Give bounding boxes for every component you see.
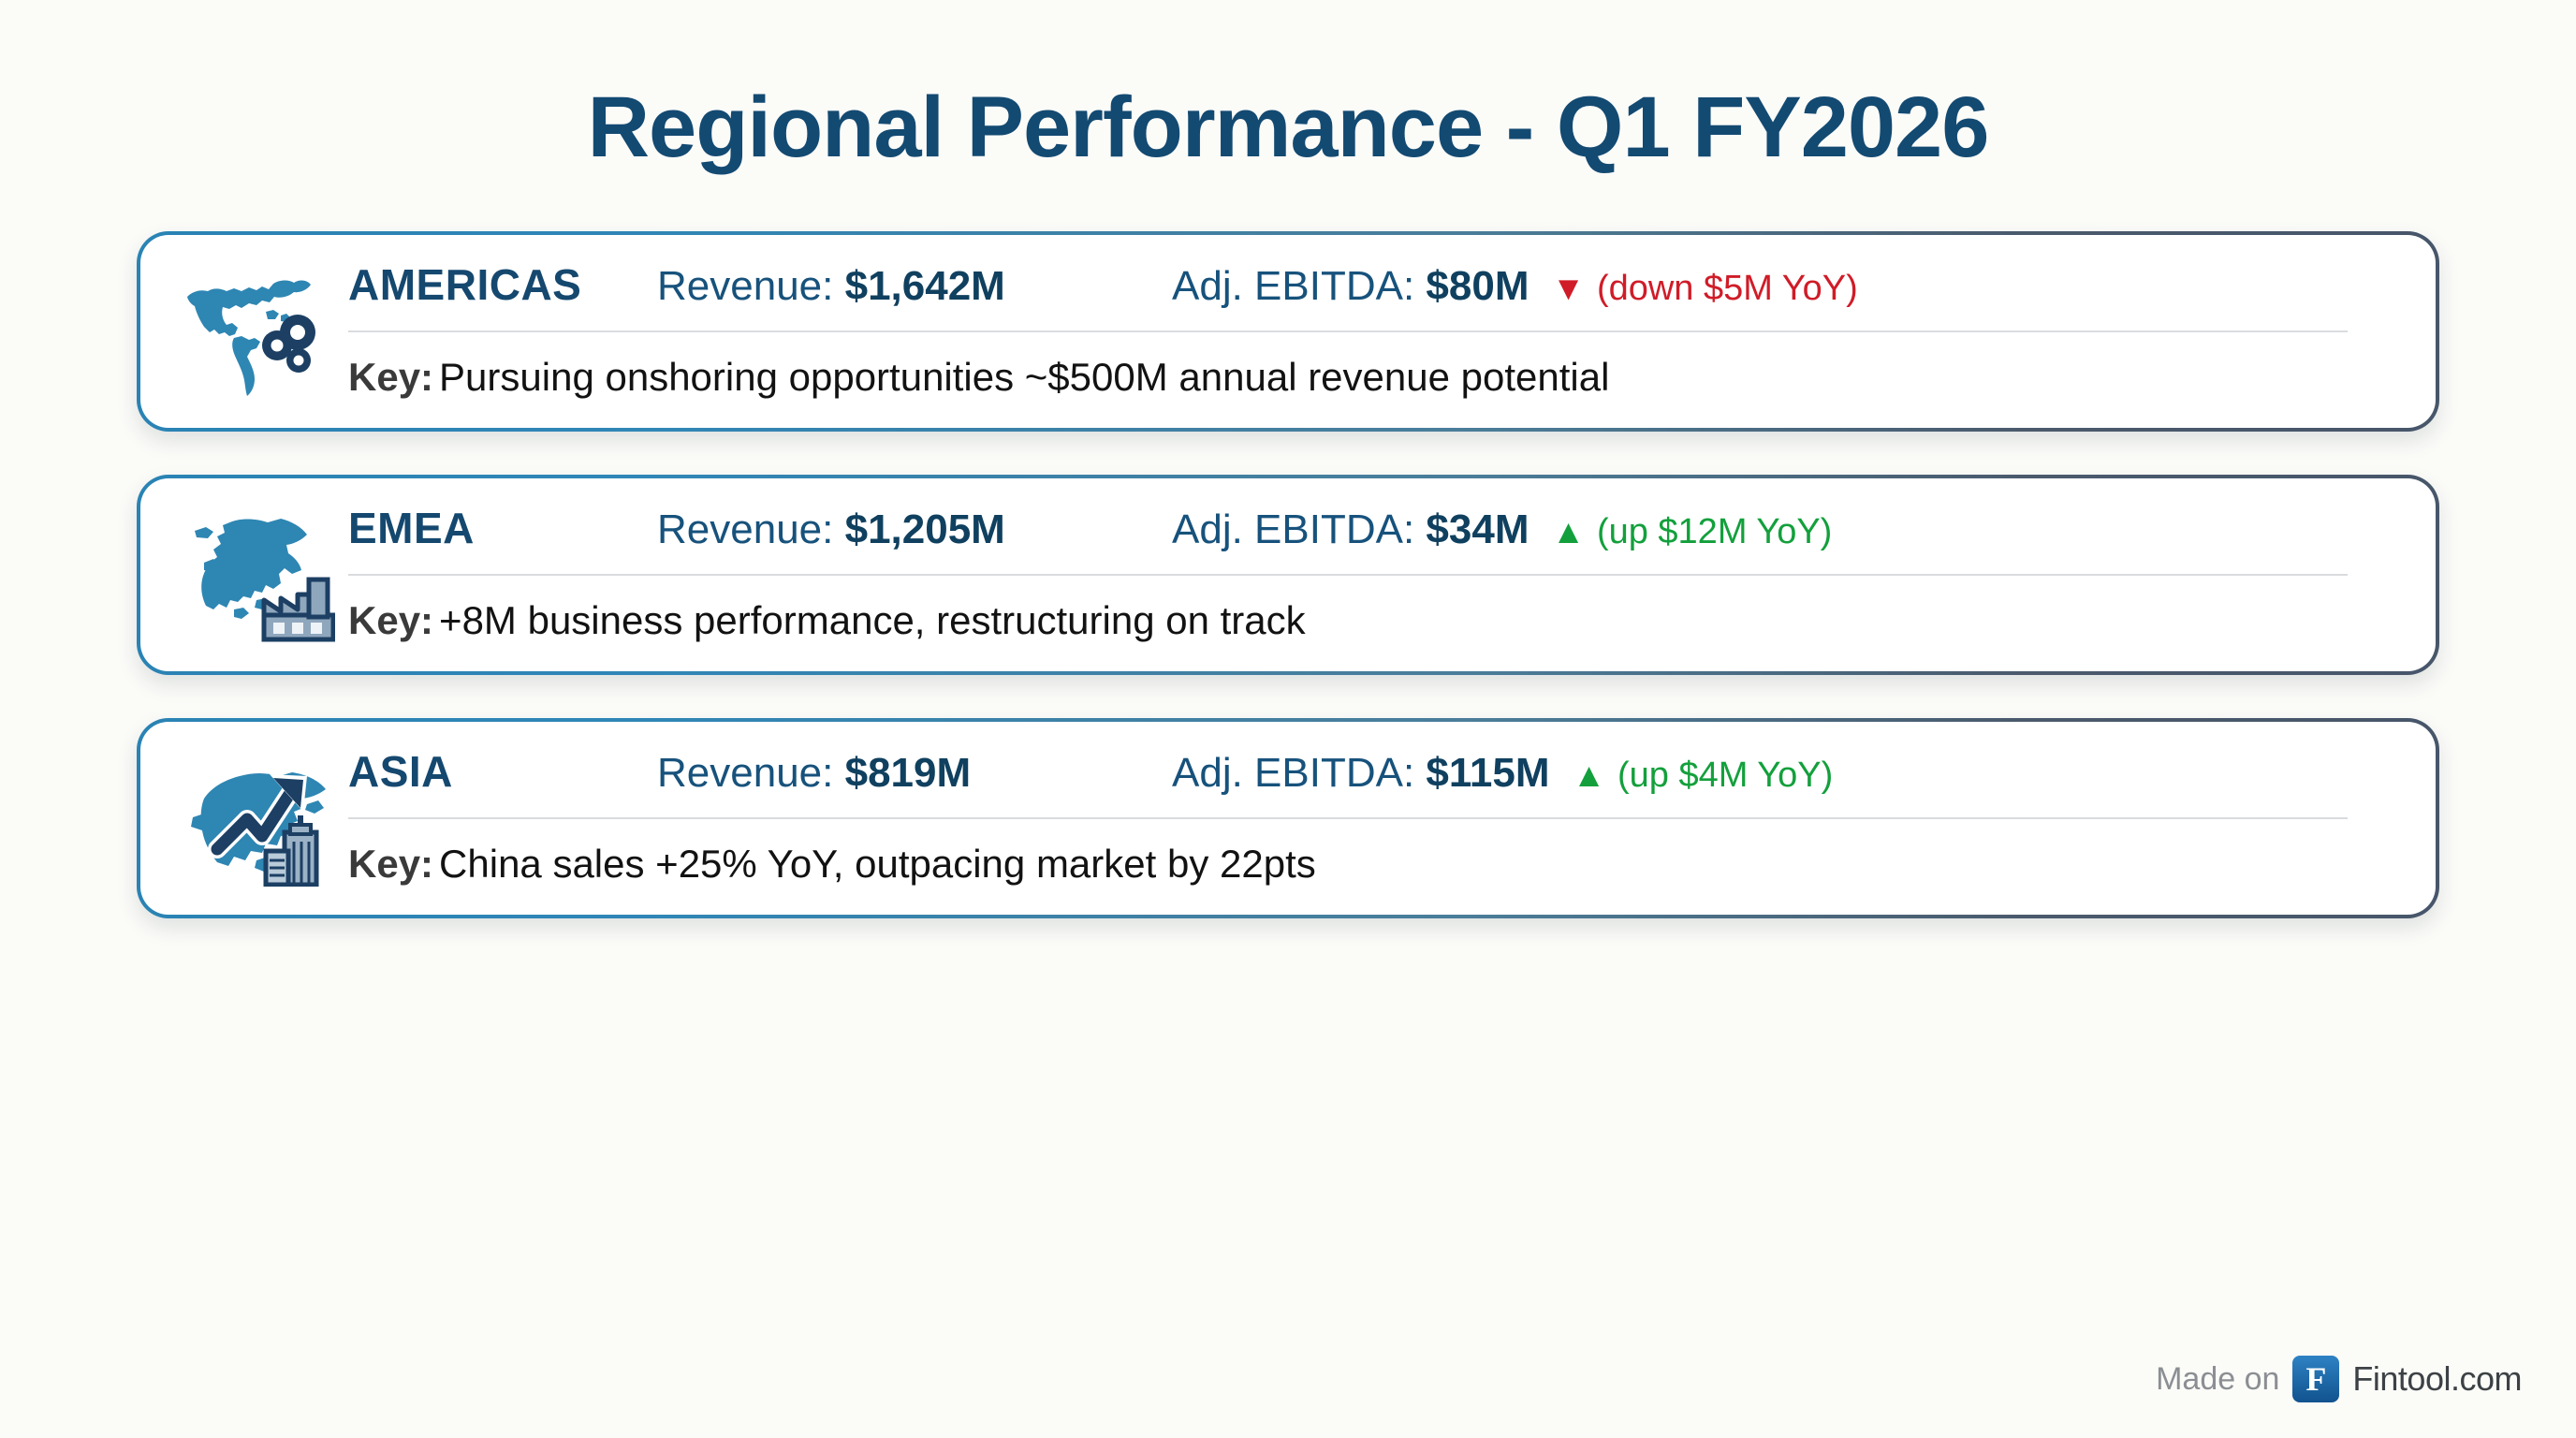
ebitda-delta: ▼ (down $5M YoY) [1552, 269, 1858, 308]
delta-text: (up $4M YoY) [1617, 756, 1833, 795]
key-text: China sales +25% YoY, outpacing market b… [439, 842, 1316, 886]
region-label: ASIA [348, 746, 657, 797]
region-label: AMERICAS [348, 259, 657, 310]
delta-text: (up $12M YoY) [1597, 512, 1832, 551]
region-card-emea[interactable]: EMEA Revenue: $1,205M Adj. EBITDA: $34M … [137, 475, 2439, 675]
footer-made-on-label: Made on [2156, 1361, 2279, 1398]
revenue-metric: Revenue: $1,642M [657, 263, 1172, 310]
revenue-value: $1,642M [845, 263, 1005, 309]
delta-text: (down $5M YoY) [1597, 269, 1858, 308]
world-map-americas-gears-icon [172, 259, 339, 400]
ebitda-value: $80M [1426, 263, 1529, 309]
metrics-row: ASIA Revenue: $819M Adj. EBITDA: $115M ▲… [348, 746, 2400, 817]
revenue-label: Revenue: [657, 506, 833, 552]
key-label: Key: [348, 355, 433, 399]
ebitda-metric: Adj. EBITDA: $34M ▲ (up $12M YoY) [1172, 506, 2400, 553]
ebitda-label: Adj. EBITDA: [1172, 750, 1414, 796]
triangle-down-icon: ▼ [1552, 269, 1588, 307]
triangle-up-icon: ▲ [1552, 512, 1588, 550]
fintool-logo-icon: F [2292, 1356, 2339, 1402]
page-title: Regional Performance - Q1 FY2026 [0, 0, 2576, 173]
key-row: Key:China sales +25% YoY, outpacing mark… [348, 819, 2400, 887]
ebitda-delta: ▲ (up $4M YoY) [1573, 756, 1833, 795]
key-text: Pursuing onshoring opportunities ~$500M … [439, 355, 1609, 399]
metrics-row: AMERICAS Revenue: $1,642M Adj. EBITDA: $… [348, 259, 2400, 330]
revenue-value: $1,205M [845, 506, 1005, 552]
key-row: Key:+8M business performance, restructur… [348, 576, 2400, 643]
revenue-label: Revenue: [657, 750, 833, 796]
ebitda-metric: Adj. EBITDA: $115M ▲ (up $4M YoY) [1172, 750, 2400, 797]
revenue-label: Revenue: [657, 263, 833, 309]
europe-map-factory-icon [172, 503, 339, 643]
region-card-asia[interactable]: ASIA Revenue: $819M Adj. EBITDA: $115M ▲… [137, 718, 2439, 918]
triangle-up-icon: ▲ [1573, 756, 1608, 794]
ebitda-value: $115M [1426, 750, 1549, 796]
ebitda-delta: ▲ (up $12M YoY) [1552, 512, 1833, 551]
revenue-value: $819M [845, 750, 972, 796]
ebitda-label: Adj. EBITDA: [1172, 263, 1414, 309]
ebitda-label: Adj. EBITDA: [1172, 506, 1414, 552]
key-label: Key: [348, 598, 433, 642]
footer-attribution[interactable]: Made on F Fintool.com [2156, 1356, 2522, 1402]
key-text: +8M business performance, restructuring … [439, 598, 1306, 642]
region-card-americas[interactable]: AMERICAS Revenue: $1,642M Adj. EBITDA: $… [137, 231, 2439, 432]
key-row: Key:Pursuing onshoring opportunities ~$5… [348, 332, 2400, 400]
footer-brand-label: Fintool.com [2352, 1359, 2522, 1399]
asia-map-growth-arrow-buildings-icon [172, 746, 339, 887]
region-cards-list: AMERICAS Revenue: $1,642M Adj. EBITDA: $… [0, 231, 2576, 918]
metrics-row: EMEA Revenue: $1,205M Adj. EBITDA: $34M … [348, 503, 2400, 574]
region-label: EMEA [348, 503, 657, 553]
revenue-metric: Revenue: $819M [657, 750, 1172, 797]
ebitda-metric: Adj. EBITDA: $80M ▼ (down $5M YoY) [1172, 263, 2400, 310]
key-label: Key: [348, 842, 433, 886]
ebitda-value: $34M [1426, 506, 1529, 552]
revenue-metric: Revenue: $1,205M [657, 506, 1172, 553]
